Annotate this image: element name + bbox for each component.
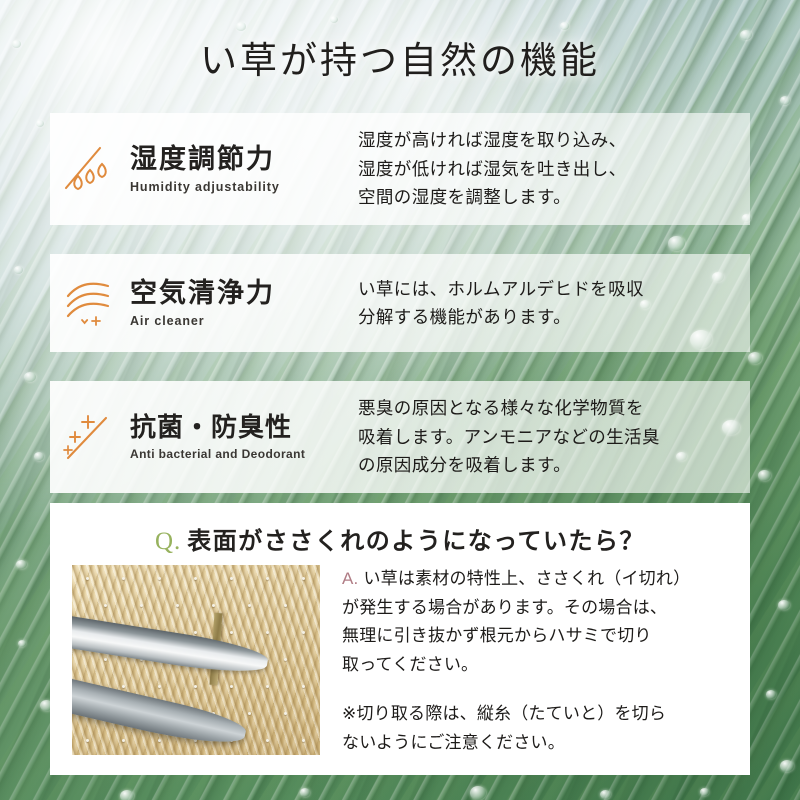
feature-card-air-cleaner: 空気清浄力 Air cleaner い草には、ホルムアルデヒドを吸収 分解する機… [50,254,750,352]
note-line: ないようにご注意ください。 [342,729,738,758]
answer-line: 無理に引き抜かず根元からハサミで切り [342,622,738,651]
feature-title-en: Air cleaner [130,314,275,328]
feature-title-ja: 抗菌・防臭性 [130,413,305,443]
feature-card-heading: 抗菌・防臭性 Anti bacterial and Deodorant [50,408,350,466]
humidity-droplets-icon [50,140,128,198]
description-line: 分解する機能があります。 [358,303,644,331]
page-title: い草が持つ自然の機能 [0,30,800,84]
qa-note: ※切り取る際は、縦糸（たていと）を切ら ないようにご注意ください。 [342,700,738,757]
feature-titles: 空気清浄力 Air cleaner [128,278,275,327]
qa-question-heading: Q.表面がささくれのようになっていたら？ [50,521,750,556]
question-marker: Q. [155,528,181,555]
feature-titles: 湿度調節力 Humidity adjustability [128,144,280,193]
description-line: 湿度が低ければ湿気を吐き出し、 [358,155,627,183]
description-line: 吸着します。アンモニアなどの生活臭 [358,423,660,451]
description-line: い草には、ホルムアルデヒドを吸収 [358,275,644,303]
feature-description: 悪臭の原因となる様々な化学物質を 吸着します。アンモニアなどの生活臭 の原因成分… [350,394,660,479]
description-line: 悪臭の原因となる様々な化学物質を [358,394,660,422]
description-line: 空間の湿度を調整します。 [358,183,627,211]
qa-panel: Q.表面がささくれのようになっていたら？ A.い草は素材の特性上、ささくれ（イ切… [50,503,750,775]
feature-titles: 抗菌・防臭性 Anti bacterial and Deodorant [128,413,305,461]
feature-title-en: Anti bacterial and Deodorant [130,447,305,461]
answer-marker: A. [342,569,358,588]
feature-card-heading: 湿度調節力 Humidity adjustability [50,140,350,198]
feature-title-ja: 湿度調節力 [130,144,280,175]
feature-card-antibacterial: 抗菌・防臭性 Anti bacterial and Deodorant 悪臭の原… [50,381,750,493]
question-text: 表面がささくれのようになっていたら？ [187,528,645,555]
feature-title-en: Humidity adjustability [130,180,280,194]
note-line: ※切り取る際は、縦糸（たていと）を切ら [342,700,738,729]
air-waves-sparkle-icon [50,274,128,332]
feature-description: 湿度が高ければ湿度を取り込み、 湿度が低ければ湿気を吐き出し、 空間の湿度を調整… [350,126,627,211]
answer-line: い草は素材の特性上、ささくれ（イ切れ） [363,569,690,588]
feature-description: い草には、ホルムアルデヒドを吸収 分解する機能があります。 [350,275,644,332]
infographic-page: い草が持つ自然の機能 湿度調節力 Humidity adjustability … [0,0,800,800]
feature-card-heading: 空気清浄力 Air cleaner [50,274,350,332]
feature-card-humidity: 湿度調節力 Humidity adjustability 湿度が高ければ湿度を取… [50,113,750,225]
answer-line: 取ってください。 [342,651,738,680]
description-line: の原因成分を吸着します。 [358,451,660,479]
answer-line: が発生する場合があります。その場合は、 [342,594,738,623]
feature-title-ja: 空気清浄力 [130,278,275,309]
scissors-tatami-photo [72,565,320,755]
qa-answer: A.い草は素材の特性上、ささくれ（イ切れ） が発生する場合があります。その場合は… [342,565,738,679]
answer-line-first: A.い草は素材の特性上、ささくれ（イ切れ） [342,565,738,594]
description-line: 湿度が高ければ湿度を取り込み、 [358,126,627,154]
sparkle-wand-icon [50,408,128,466]
